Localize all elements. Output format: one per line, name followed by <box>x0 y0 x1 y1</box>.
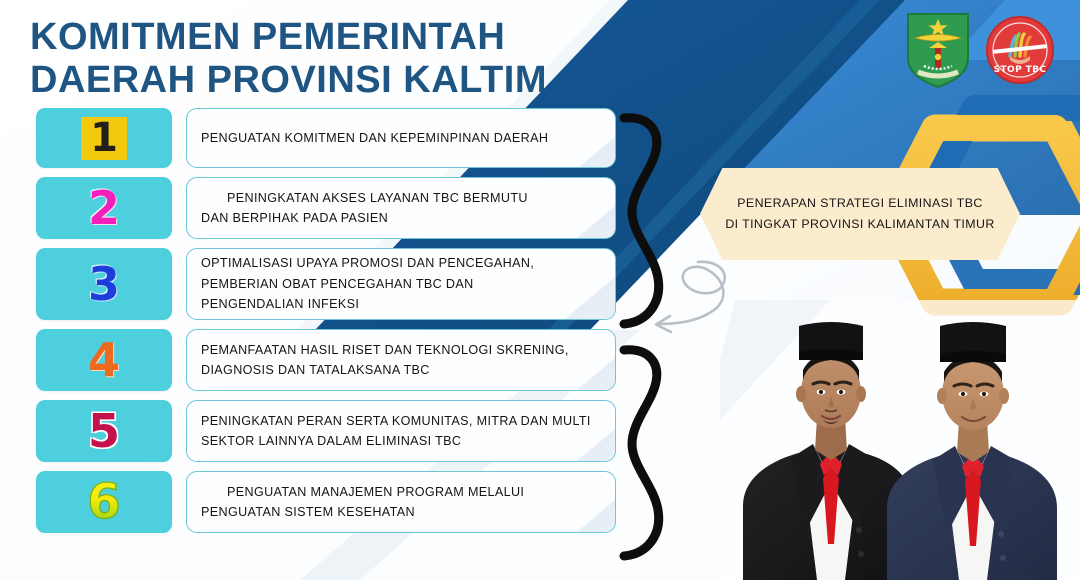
curly-brace-items-4-6 <box>614 344 670 562</box>
number-glyph-3: 3 <box>88 261 120 307</box>
provincial-emblem-kaltim-logo <box>902 8 974 90</box>
commitment-5-line-1: PENINGKATAN PERAN SERTA KOMUNITAS, MITRA… <box>201 411 601 431</box>
list-item[interactable]: 1 PENGUATAN KOMITMEN DAN KEPEMINPINAN DA… <box>36 108 616 168</box>
number-glyph-6: 6 <box>87 478 120 526</box>
page-title: KOMITMEN PEMERINTAH DAERAH PROVINSI KALT… <box>30 16 590 103</box>
commitment-6-line-2: PENGUATAN SISTEM KESEHATAN <box>201 502 601 522</box>
number-glyph-1: 1 <box>81 117 127 160</box>
commitment-2-line-2: DAN BERPIHAK PADA PASIEN <box>201 208 601 228</box>
commitment-4-line-1: PEMANFAATAN HASIL RISET DAN TEKNOLOGI SK… <box>201 340 601 360</box>
title-line-2: DAERAH PROVINSI KALTIM <box>30 59 590 102</box>
callout-line-1: PENERAPAN STRATEGI ELIMINASI TBC <box>737 193 983 214</box>
commitment-3-line-3: PENGENDALIAN INFEKSI <box>201 294 601 314</box>
commitment-4-line-2: DIAGNOSIS DAN TATALAKSANA TBC <box>201 360 601 380</box>
number-glyph-4: 4 <box>88 337 120 383</box>
number-tile-4: 4 <box>36 329 172 391</box>
number-glyph-2: 2 <box>88 185 120 231</box>
callout-box: PENERAPAN STRATEGI ELIMINASI TBC DI TING… <box>700 168 1020 260</box>
red-circle-stop-tbc-icon: STOP TBC <box>984 8 1056 90</box>
title-line-1: KOMITMEN PEMERINTAH <box>30 16 590 59</box>
brace-bottom-icon <box>614 344 670 562</box>
list-item[interactable]: 4 PEMANFAATAN HASIL RISET DAN TEKNOLOGI … <box>36 329 616 391</box>
svg-text:STOP TBC: STOP TBC <box>994 65 1047 75</box>
loop-arrow-icon <box>638 252 748 352</box>
number-tile-1: 1 <box>36 108 172 168</box>
number-tile-6: 6 <box>36 471 172 533</box>
two-officials-portrait <box>735 292 1065 580</box>
curved-arrow-pointing-left <box>638 252 748 357</box>
commitment-1-line-1: PENGUATAN KOMITMEN DAN KEPEMINPINAN DAER… <box>201 128 601 148</box>
logo-group: STOP TBC <box>902 8 1056 90</box>
tbc-elimination-logo: STOP TBC <box>984 8 1056 90</box>
commitment-text-3: OPTIMALISASI UPAYA PROMOSI DAN PENCEGAHA… <box>186 248 616 320</box>
infographic-canvas: STOP TBC KOMITMEN PEMERINTAH DAERAH PROV… <box>0 0 1080 580</box>
list-item[interactable]: 3 OPTIMALISASI UPAYA PROMOSI DAN PENCEGA… <box>36 248 616 320</box>
commitment-text-4: PEMANFAATAN HASIL RISET DAN TEKNOLOGI SK… <box>186 329 616 391</box>
commitment-text-1: PENGUATAN KOMITMEN DAN KEPEMINPINAN DAER… <box>186 108 616 168</box>
commitment-3-line-2: PEMBERIAN OBAT PENCEGAHAN TBC DAN <box>201 274 601 294</box>
commitment-2-line-1: PENINGKATAN AKSES LAYANAN TBC BERMUTU <box>201 188 601 208</box>
list-item[interactable]: 6 PENGUATAN MANAJEMEN PROGRAM MELALUI PE… <box>36 471 616 533</box>
list-item[interactable]: 2 PENINGKATAN AKSES LAYANAN TBC BERMUTU … <box>36 177 616 239</box>
list-item[interactable]: 5 PENINGKATAN PERAN SERTA KOMUNITAS, MIT… <box>36 400 616 462</box>
commitment-text-5: PENINGKATAN PERAN SERTA KOMUNITAS, MITRA… <box>186 400 616 462</box>
officials-photo <box>735 292 1065 580</box>
callout-line-2: DI TINGKAT PROVINSI KALIMANTAN TIMUR <box>725 214 994 235</box>
commitment-text-6: PENGUATAN MANAJEMEN PROGRAM MELALUI PENG… <box>186 471 616 533</box>
commitment-text-2: PENINGKATAN AKSES LAYANAN TBC BERMUTU DA… <box>186 177 616 239</box>
commitment-5-line-2: SEKTOR LAINNYA DALAM ELIMINASI TBC <box>201 431 601 451</box>
commitment-6-line-1: PENGUATAN MANAJEMEN PROGRAM MELALUI <box>201 482 601 502</box>
number-tile-3: 3 <box>36 248 172 320</box>
person-right <box>887 322 1057 580</box>
number-tile-5: 5 <box>36 400 172 462</box>
green-shield-icon <box>902 8 974 90</box>
number-tile-2: 2 <box>36 177 172 239</box>
number-glyph-5: 5 <box>88 408 120 454</box>
commitment-3-line-1: OPTIMALISASI UPAYA PROMOSI DAN PENCEGAHA… <box>201 253 601 273</box>
commitments-list: 1 PENGUATAN KOMITMEN DAN KEPEMINPINAN DA… <box>36 108 616 542</box>
